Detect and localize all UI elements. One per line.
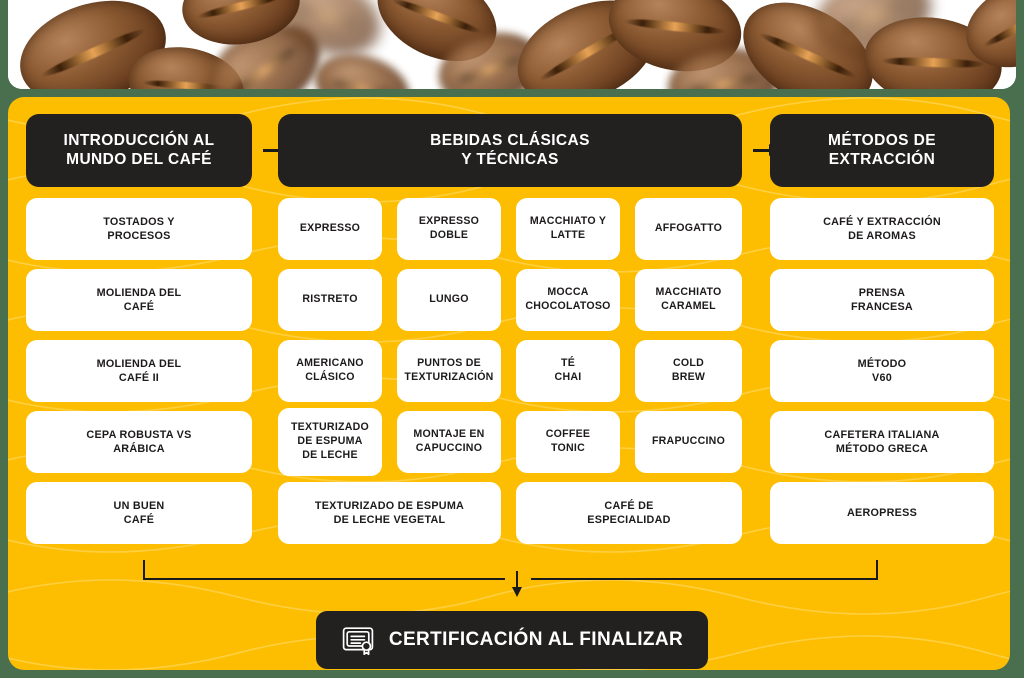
- card-label: AMERICANOCLÁSICO: [296, 357, 364, 385]
- card-label: EXPRESSODOBLE: [419, 215, 479, 243]
- certification-banner[interactable]: CERTIFICACIÓN AL FINALIZAR: [316, 611, 708, 669]
- card-label: MÉTODOV60: [858, 357, 907, 386]
- card-label: MACCHIATOCARAMEL: [655, 286, 721, 314]
- card-label: TEXTURIZADODE ESPUMADE LECHE: [291, 421, 369, 463]
- card-col2-r5-c1[interactable]: TEXTURIZADO DE ESPUMADE LECHE VEGETAL: [278, 482, 501, 544]
- card-col2-r4-c2[interactable]: MONTAJE ENCAPUCCINO: [397, 411, 501, 473]
- card-col2-r5-c2[interactable]: CAFÉ DEESPECIALIDAD: [516, 482, 742, 544]
- card-col3-row5[interactable]: AEROPRESS: [770, 482, 994, 544]
- arrow-shaft: [263, 149, 279, 152]
- column-header-label: BEBIDAS CLÁSICAS Y TÉCNICAS: [430, 132, 590, 170]
- card-col2-r1-c2[interactable]: EXPRESSODOBLE: [397, 198, 501, 260]
- card-col2-r2-c3[interactable]: MOCCACHOCOLATOSO: [516, 269, 620, 331]
- card-label: AEROPRESS: [847, 506, 917, 520]
- card-label: MOLIENDA DELCAFÉ II: [97, 357, 182, 386]
- card-col2-r2-c1[interactable]: RISTRETO: [278, 269, 382, 331]
- certificate-icon: [341, 623, 375, 657]
- card-label: TÉCHAI: [555, 357, 582, 385]
- card-col2-r2-c4[interactable]: MACCHIATOCARAMEL: [635, 269, 742, 331]
- card-col2-r3-c4[interactable]: COLDBREW: [635, 340, 742, 402]
- card-col3-row1[interactable]: CAFÉ Y EXTRACCIÓNDE AROMAS: [770, 198, 994, 260]
- card-col1-row3[interactable]: MOLIENDA DELCAFÉ II: [26, 340, 252, 402]
- card-label: CAFETERA ITALIANAMÉTODO GRECA: [824, 428, 939, 457]
- bracket-connector: [143, 560, 878, 582]
- card-col1-row4[interactable]: CEPA ROBUSTA VSARÁBICA: [26, 411, 252, 473]
- card-col2-r1-c3[interactable]: MACCHIATO YLATTE: [516, 198, 620, 260]
- card-col2-r4-c4[interactable]: FRAPUCCINO: [635, 411, 742, 473]
- card-label: CAFÉ DEESPECIALIDAD: [587, 499, 670, 528]
- card-col2-r4-c3[interactable]: COFFEETONIC: [516, 411, 620, 473]
- card-label: LUNGO: [429, 293, 469, 307]
- card-label: EXPRESSO: [300, 222, 360, 236]
- card-label: UN BUENCAFÉ: [114, 499, 165, 528]
- column-header-bebidas[interactable]: BEBIDAS CLÁSICAS Y TÉCNICAS: [278, 114, 742, 187]
- bracket-right-line: [531, 578, 878, 580]
- card-label: TOSTADOS YPROCESOS: [103, 215, 175, 244]
- card-col3-row2[interactable]: PRENSAFRANCESA: [770, 269, 994, 331]
- card-label: MONTAJE ENCAPUCCINO: [413, 428, 484, 456]
- card-label: CAFÉ Y EXTRACCIÓNDE AROMAS: [823, 215, 941, 244]
- bracket-left-stem: [143, 560, 145, 580]
- card-col2-r4-c1[interactable]: TEXTURIZADODE ESPUMADE LECHE: [278, 408, 382, 476]
- card-label: MOLIENDA DELCAFÉ: [97, 286, 182, 315]
- card-col1-row2[interactable]: MOLIENDA DELCAFÉ: [26, 269, 252, 331]
- card-col2-r2-c2[interactable]: LUNGO: [397, 269, 501, 331]
- card-label: CEPA ROBUSTA VSARÁBICA: [86, 428, 191, 457]
- down-arrow-head: [512, 587, 522, 597]
- card-label: PUNTOS DETEXTURIZACIÓN: [404, 357, 493, 385]
- certification-label: CERTIFICACIÓN AL FINALIZAR: [389, 629, 683, 651]
- card-label: RISTRETO: [302, 293, 357, 307]
- card-col2-r1-c4[interactable]: AFFOGATTO: [635, 198, 742, 260]
- card-label: AFFOGATTO: [655, 222, 722, 236]
- card-label: MOCCACHOCOLATOSO: [525, 286, 610, 314]
- bracket-right-stem: [876, 560, 878, 580]
- coffee-beans-photo: [8, 0, 1016, 89]
- card-col2-r3-c1[interactable]: AMERICANOCLÁSICO: [278, 340, 382, 402]
- column-header-metodos[interactable]: MÉTODOS DE EXTRACCIÓN: [770, 114, 994, 187]
- card-label: MACCHIATO YLATTE: [530, 215, 606, 243]
- card-col2-r3-c3[interactable]: TÉCHAI: [516, 340, 620, 402]
- card-col1-row5[interactable]: UN BUENCAFÉ: [26, 482, 252, 544]
- column-header-label: MÉTODOS DE EXTRACCIÓN: [828, 132, 936, 170]
- arrow-shaft: [753, 149, 769, 152]
- card-label: COLDBREW: [672, 357, 705, 385]
- card-col1-row1[interactable]: TOSTADOS YPROCESOS: [26, 198, 252, 260]
- card-label: COFFEETONIC: [546, 428, 590, 456]
- card-col3-row4[interactable]: CAFETERA ITALIANAMÉTODO GRECA: [770, 411, 994, 473]
- infographic-root: INTRODUCCIÓN AL MUNDO DEL CAFÉ BEBIDAS C…: [0, 0, 1024, 678]
- card-col3-row3[interactable]: MÉTODOV60: [770, 340, 994, 402]
- hero-banner: [8, 0, 1016, 89]
- card-label: TEXTURIZADO DE ESPUMADE LECHE VEGETAL: [315, 499, 464, 528]
- card-label: PRENSAFRANCESA: [851, 286, 913, 315]
- card-col2-r3-c2[interactable]: PUNTOS DETEXTURIZACIÓN: [397, 340, 501, 402]
- bracket-left-line: [143, 578, 505, 580]
- card-col2-r1-c1[interactable]: EXPRESSO: [278, 198, 382, 260]
- column-header-label: INTRODUCCIÓN AL MUNDO DEL CAFÉ: [64, 132, 215, 170]
- card-label: FRAPUCCINO: [652, 435, 725, 449]
- down-arrow-icon: [512, 571, 522, 599]
- course-board: INTRODUCCIÓN AL MUNDO DEL CAFÉ BEBIDAS C…: [8, 97, 1010, 670]
- column-header-introduccion[interactable]: INTRODUCCIÓN AL MUNDO DEL CAFÉ: [26, 114, 252, 187]
